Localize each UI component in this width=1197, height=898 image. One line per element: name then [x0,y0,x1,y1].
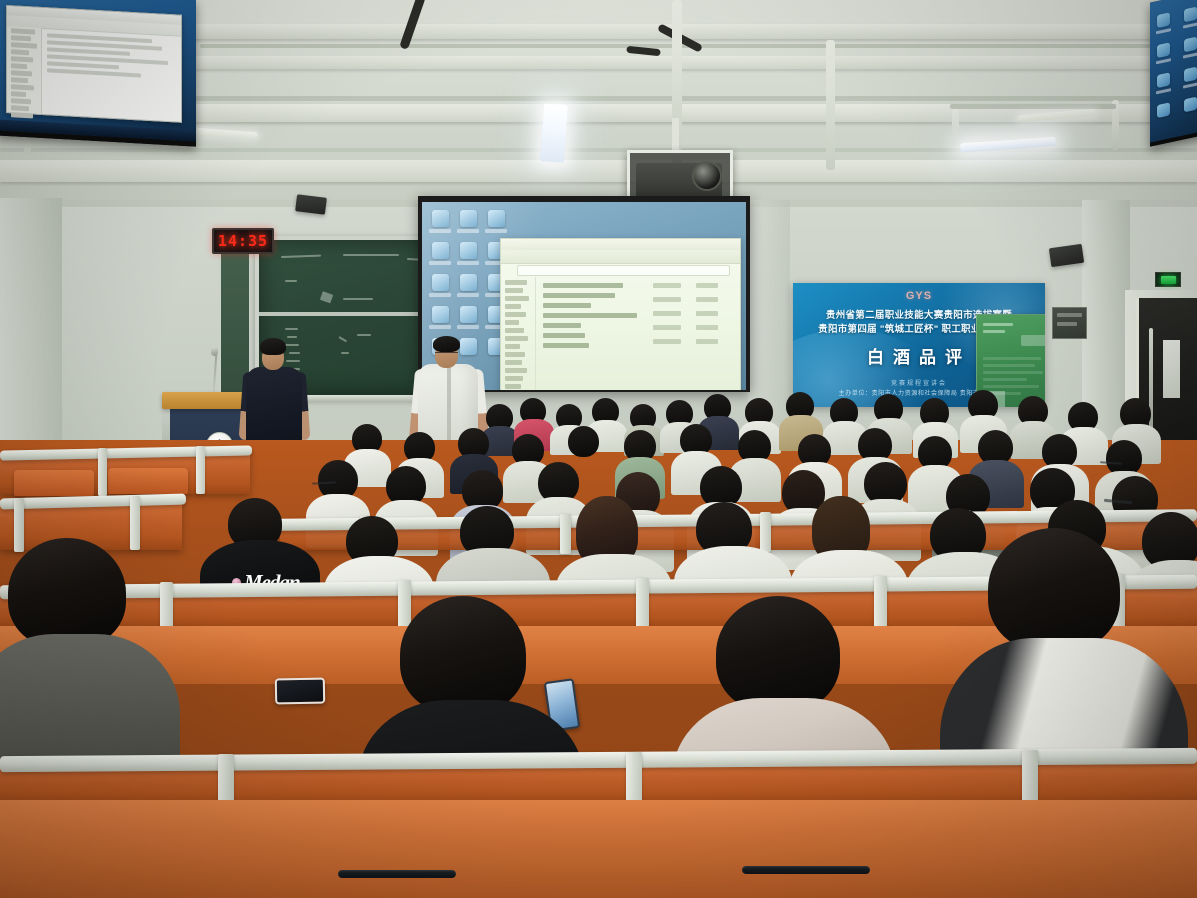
microphone-head [211,346,218,356]
tree-item[interactable] [11,98,31,104]
poster-line [983,385,1039,388]
tree-item[interactable] [11,91,26,97]
rail-post [98,448,107,496]
presenter-torso [246,367,302,449]
left-wall-monitor[interactable] [0,0,196,147]
tree-item[interactable] [11,56,33,62]
presenter-dark-polo [246,338,304,453]
person-head [988,528,1120,652]
file-explorer-window[interactable] [6,5,182,123]
exit-sign-glow [1161,276,1176,284]
desktop-icon[interactable] [1157,102,1170,118]
rail-post [874,576,887,630]
emergency-exit-sign [1155,272,1181,287]
file-meta [696,311,718,316]
tree-item[interactable] [11,77,28,83]
wall-led-clock: 14:35 [212,228,274,254]
rail-post [196,446,205,494]
lecture-seat[interactable] [108,468,188,494]
poster-badge [1021,335,1045,346]
rail-post [636,578,649,632]
chalk-mark [343,254,399,256]
windows-desktop [0,0,196,142]
file-meta [696,325,718,330]
file-meta [653,311,681,316]
shirt-placket [447,366,451,446]
windows-desktop [1150,0,1197,143]
tree-item[interactable] [11,35,31,41]
plaque-line [1057,322,1077,326]
file-meta [653,297,681,302]
desktop-icon-label [1183,52,1197,58]
file-list[interactable] [43,30,177,79]
tree-item[interactable] [11,63,27,69]
rail-post [560,514,571,554]
person-head [8,538,126,648]
file-meta [653,339,681,344]
rail-post [760,512,771,552]
banner-logo: GYS [793,290,1045,302]
wall-notice-plaque [1052,307,1087,339]
file-meta [696,283,718,288]
desktop-icon[interactable] [1184,37,1197,53]
chalk-mark [285,280,297,282]
tree-item[interactable] [11,84,34,90]
cable-grommet [338,870,456,878]
chalk-mark [285,328,298,330]
file-meta [696,297,718,302]
tree-item[interactable] [11,49,29,55]
tree-item[interactable] [11,112,33,118]
tree-item[interactable] [11,42,37,48]
poster-line [983,378,1027,381]
file-meta [653,325,681,330]
chalk-mark [357,334,371,336]
tree-item[interactable] [11,28,35,34]
chalk-mark [341,352,349,354]
projector-mount-stem [672,118,679,154]
door-window [1163,340,1180,398]
presenter-hair [260,338,286,355]
projector-lens [692,161,722,191]
fluorescent-tube-light [540,103,568,163]
chalk-mark [343,298,373,300]
clock-time: 14:35 [218,232,268,250]
poster-line [983,364,1035,367]
desktop-icon[interactable] [1157,42,1170,58]
desktop-icon[interactable] [1184,67,1197,83]
event-banner: GYS 贵州省第二届职业技能大赛贵阳市选拔赛暨 贵阳市第四届 "筑城工匠杯" 职… [793,283,1045,407]
wall-speaker [295,194,327,215]
smartphone-black[interactable] [275,678,325,705]
poster-line [983,371,1043,374]
navigation-pane[interactable] [7,26,42,114]
desktop-icon[interactable] [1184,97,1197,113]
tree-item[interactable] [11,70,32,76]
lecture-seat[interactable] [14,470,94,496]
ceiling-conduit [0,148,1197,152]
presenter-hair [433,336,460,352]
desktop-icon-label [1156,58,1171,64]
rail-post [130,496,140,550]
vertical-pipe [952,104,959,146]
poster-line [983,323,1013,326]
vertical-pipe [826,40,835,170]
poster-line [983,330,1005,333]
cable-grommet [742,866,870,874]
file-row[interactable] [47,68,141,77]
chalk-mark [320,291,333,303]
desktop-icon[interactable] [1157,12,1170,28]
desktop-icon-label [1156,28,1171,34]
fluorescent-tube-light [196,128,258,139]
chalk-mark [281,255,321,258]
desktop-icon-label [1183,82,1197,88]
ceiling-beam [0,160,1197,182]
person-head [400,596,526,714]
desktop-icon-label [1183,22,1197,28]
lecture-hall-photo: 14:35 [0,0,1197,898]
wall-column [748,200,790,430]
glasses-icon [435,352,458,358]
rail-post [14,498,24,552]
door-push-bar[interactable] [1149,328,1153,438]
desktop-icon[interactable] [1184,7,1197,23]
chalkboard-divider [259,312,444,316]
tree-item[interactable] [11,105,29,111]
desktop-icon-label [1156,88,1171,94]
chalk-mark [339,336,348,342]
desk-surface-front [0,800,1197,898]
file-meta [696,339,718,344]
right-wall-monitor[interactable] [1150,0,1197,147]
desktop-icon[interactable] [1157,72,1170,88]
poster-line [983,357,1041,360]
plaque-line [1057,313,1082,317]
file-meta [653,283,681,288]
person-head [716,596,840,712]
